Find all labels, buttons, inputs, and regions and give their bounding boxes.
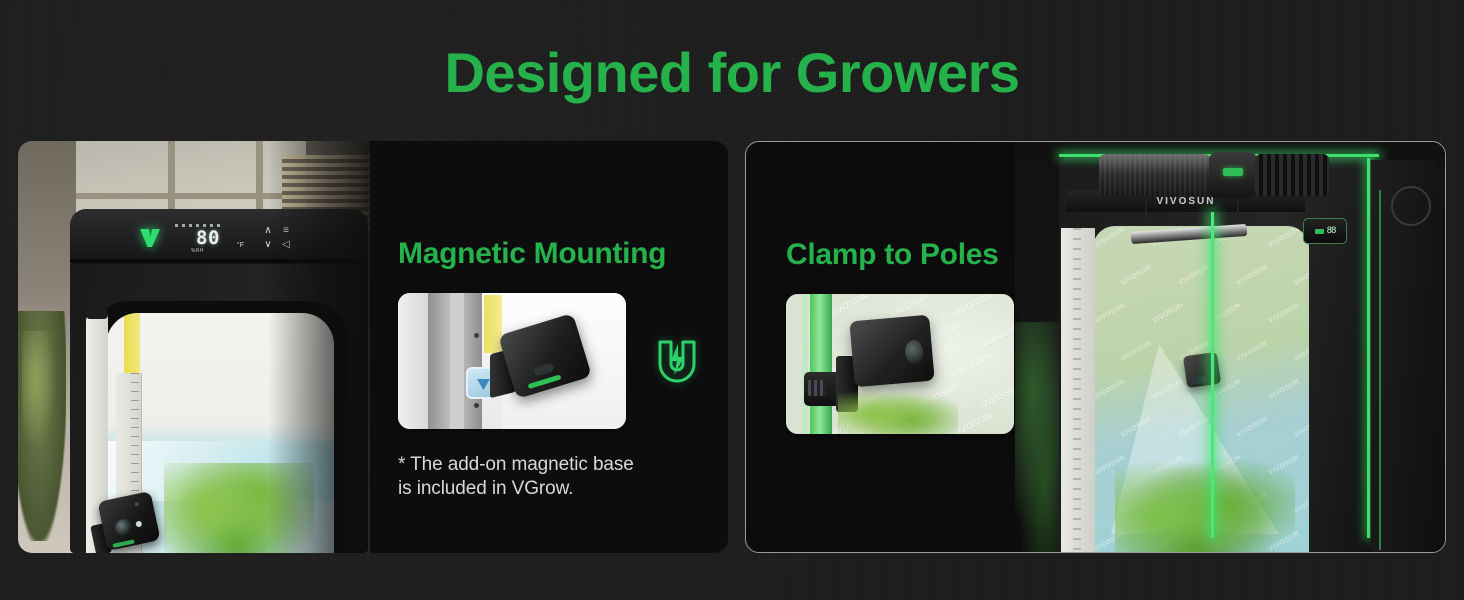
- tent-watermark-label: VIVOSUN: [1268, 302, 1301, 325]
- vivosun-v-logo-icon: [138, 227, 162, 249]
- inset-clamped-camera: [849, 315, 934, 388]
- readout-segment-dots-icon: [175, 224, 223, 227]
- inset-watermark-label: VIVOSUN: [980, 380, 1014, 409]
- tent-watermark-label: VIVOSUN: [1294, 492, 1309, 515]
- feature-title-clamp-to-poles: Clamp to Poles: [786, 238, 1046, 272]
- inset-watermark-label: VIVOSUN: [1012, 350, 1014, 379]
- inset-watermark-label: VIVOSUN: [1012, 410, 1014, 434]
- tent-plants-icon: [1115, 448, 1295, 552]
- tent-side-green-edge: [1379, 190, 1381, 550]
- footnote-line-1: * The add-on magnetic base: [398, 453, 708, 477]
- tent-zipper-strip: [1061, 228, 1095, 552]
- tent-mounted-camera: [1183, 352, 1221, 388]
- inset-green-pole: [810, 294, 832, 434]
- inset-watermark-label: VIVOSUN: [980, 320, 1014, 349]
- room-plant-icon: [18, 311, 66, 541]
- controller-indicator-icon: [1315, 229, 1324, 234]
- inset-wall-mid: [428, 293, 450, 429]
- inset-foliage-icon: [838, 386, 958, 434]
- measuring-tape-icon: [124, 313, 140, 375]
- tent-controller-module[interactable]: 88: [1303, 218, 1347, 244]
- magnetic-mounting-content: Magnetic Mounting: [370, 141, 728, 553]
- inset-pole-highlight: [802, 294, 808, 434]
- grow-box-post-cap: [86, 309, 108, 319]
- inset-watermark-label: VIVOSUN: [826, 294, 870, 320]
- inset-wall-left: [398, 293, 428, 429]
- inset-photo-magnetic-mount: [398, 293, 626, 429]
- product-photo-vgrow-box: 80 °F %RH ∧ ≡ ∨ ◁: [18, 141, 370, 553]
- hanger-rope-icon: [1145, 200, 1147, 228]
- tent-watermark-label: VIVOSUN: [1210, 302, 1243, 325]
- magnet-icon: [646, 330, 708, 392]
- inset-watermark-label: VIVOSUN: [950, 350, 994, 379]
- tent-watermark-label: VIVOSUN: [1178, 264, 1211, 287]
- product-photo-grow-tent: VIVOSUN VIVOSUNVIVOSUNVIVOSUNVIVOSUNVIVO…: [1015, 142, 1445, 552]
- inset-screw-icon: [474, 403, 479, 408]
- tent-watermark-label: VIVOSUN: [1094, 226, 1127, 249]
- magnetic-mounting-illustration-row: [398, 293, 728, 429]
- tent-watermark-label: VIVOSUN: [1294, 416, 1309, 439]
- magnetic-mounting-footnote: * The add-on magnetic base is included i…: [398, 453, 708, 502]
- tent-watermark-label: VIVOSUN: [1152, 302, 1185, 325]
- controller-readout: 88: [1327, 226, 1336, 236]
- temperature-readout: 80 °F %RH: [169, 223, 247, 253]
- inset-photo-pole-clamp: VIVOSUNVIVOSUNVIVOSUNVIVOSUNVIVOSUNVIVOS…: [786, 294, 1014, 434]
- tent-watermark-label: VIVOSUN: [1236, 264, 1269, 287]
- inline-fan-icon: [1209, 152, 1257, 198]
- inset-rail: [464, 293, 482, 429]
- tent-watermark-label: VIVOSUN: [1268, 226, 1301, 249]
- readout-unit: °F: [237, 242, 244, 249]
- feature-panel-magnetic-mounting: 80 °F %RH ∧ ≡ ∨ ◁: [18, 141, 728, 553]
- inset-wall-right: [450, 293, 464, 429]
- feature-title-magnetic-mounting: Magnetic Mounting: [398, 237, 728, 271]
- tent-viewing-window: VIVOSUNVIVOSUNVIVOSUNVIVOSUNVIVOSUNVIVOS…: [1093, 226, 1309, 552]
- readout-value: 80: [196, 227, 220, 249]
- tent-watermark-label: VIVOSUN: [1294, 264, 1309, 287]
- inset-measuring-tape-icon: [484, 295, 502, 353]
- tent-glow-right-edge: [1367, 158, 1370, 538]
- tent-watermark-label: VIVOSUN: [1094, 302, 1127, 325]
- inset-watermark-label: VIVOSUN: [1012, 294, 1014, 320]
- tent-brand-label: VIVOSUN: [1156, 196, 1215, 207]
- inset-watermark-label: VIVOSUN: [950, 294, 994, 320]
- page-title: Designed for Growers: [0, 40, 1464, 105]
- carbon-filter-icon: [1099, 154, 1211, 196]
- inset-screw-icon: [474, 333, 479, 338]
- tent-watermark-label: VIVOSUN: [1120, 264, 1153, 287]
- pole-clamp-bracket: [804, 372, 840, 406]
- photo-gradient-fade: [268, 141, 370, 553]
- footnote-line-2: is included in VGrow.: [398, 477, 708, 501]
- readout-subunit: %RH: [191, 248, 204, 254]
- tent-glow-center-pole: [1211, 212, 1214, 538]
- tent-side-panel: [1371, 160, 1445, 552]
- feature-panel-clamp-to-poles: VIVOSUN VIVOSUNVIVOSUNVIVOSUNVIVOSUNVIVO…: [745, 141, 1446, 553]
- ducting-icon: [1255, 154, 1329, 196]
- clamp-to-poles-content: Clamp to Poles VIVOSUNVIVOSUNVIVOSUNVIVO…: [746, 142, 1046, 552]
- tent-watermark-label: VIVOSUN: [1294, 340, 1309, 363]
